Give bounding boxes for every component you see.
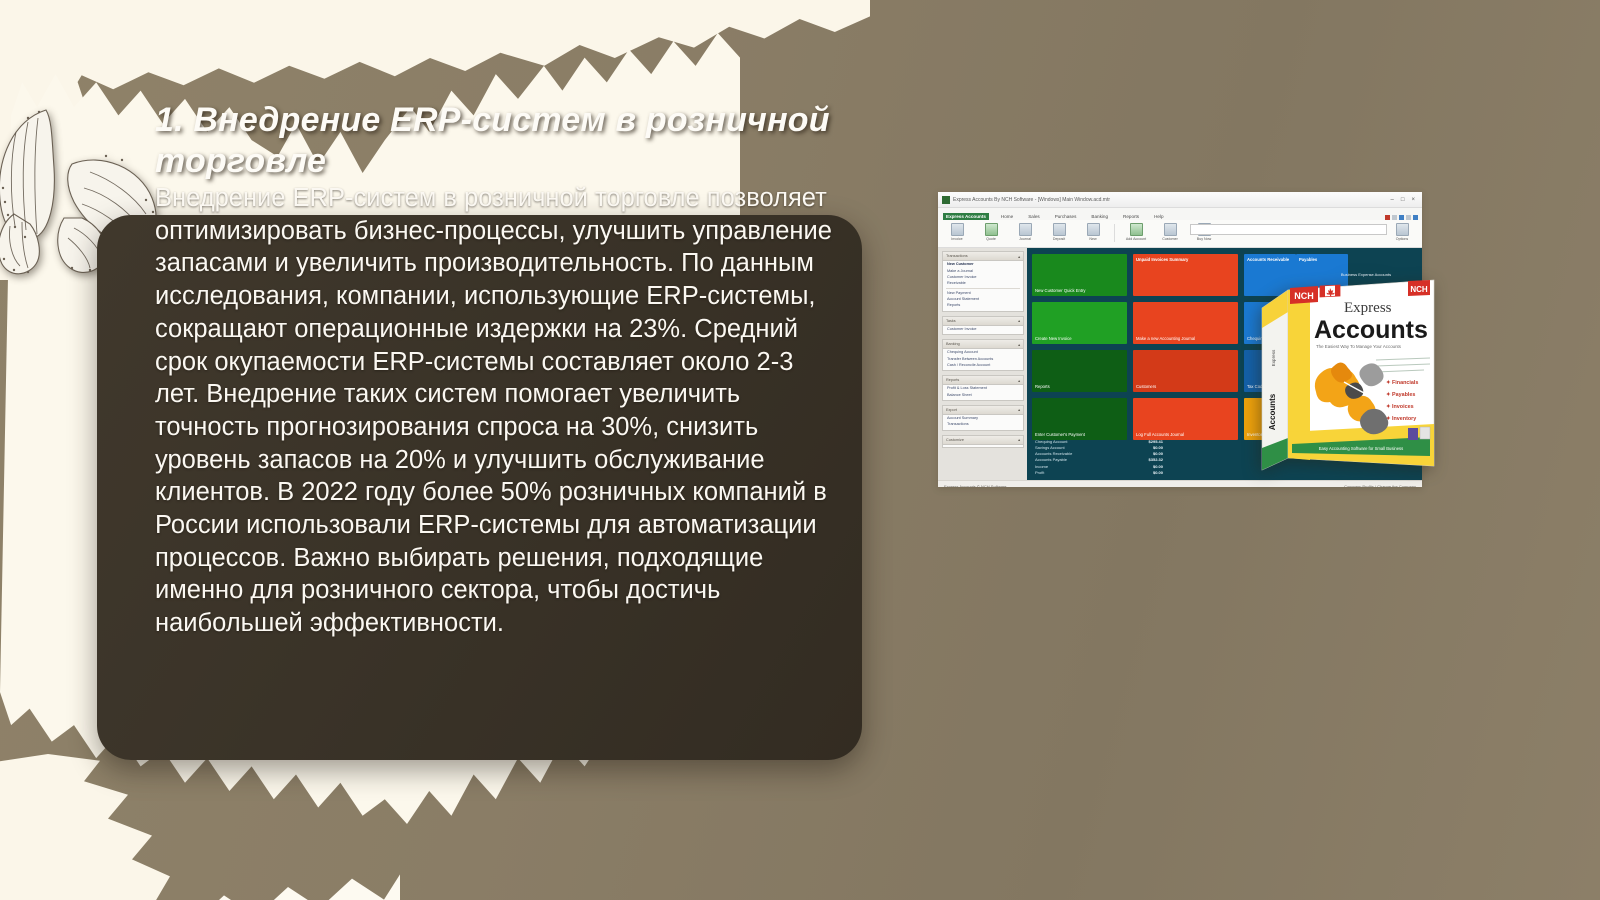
nav-item-transactions[interactable]: Transactions bbox=[943, 421, 1023, 427]
ribbon-tab-sales[interactable]: Sales bbox=[1025, 213, 1043, 220]
product-box-feature-payables: ✦ Payables bbox=[1386, 392, 1415, 398]
toolbar-label: Buy Now bbox=[1191, 237, 1217, 241]
nav-group-header[interactable]: Export ▴ bbox=[943, 406, 1023, 415]
tile-new-customer-quick-entry[interactable]: New Customer Quick Entry bbox=[1032, 254, 1127, 296]
toolbar-label: Deposit bbox=[1046, 237, 1072, 241]
collapse-icon[interactable]: ▴ bbox=[1018, 378, 1020, 383]
nav-group-header[interactable]: Transactions ▴ bbox=[943, 252, 1023, 261]
toolbar-button-deposit[interactable]: Deposit bbox=[1046, 223, 1072, 241]
toolbar-label: New bbox=[1080, 237, 1106, 241]
nav-group-export: Export ▴ Account Summary Transactions bbox=[942, 405, 1024, 431]
close-button[interactable]: × bbox=[1411, 197, 1415, 203]
collapse-icon[interactable]: ▴ bbox=[1018, 318, 1020, 323]
product-box-spine-text: Accounts bbox=[1268, 393, 1277, 430]
account-row: Profit $0.00 bbox=[1035, 470, 1163, 476]
collapse-icon[interactable]: ▴ bbox=[1018, 254, 1020, 259]
maximize-button[interactable]: □ bbox=[1401, 197, 1405, 203]
status-right: Company Profile / Change the Company bbox=[1344, 484, 1416, 487]
tile-customers[interactable]: Customers bbox=[1133, 350, 1238, 392]
ribbon-tabs: Express Accounts Home Sales Purchases Ba… bbox=[938, 208, 1422, 220]
toolbar-label: Add Account bbox=[1123, 237, 1149, 241]
tile-reports[interactable]: Reports bbox=[1032, 350, 1127, 392]
svg-text:NCH: NCH bbox=[1410, 285, 1428, 294]
nav-item-balance-sheet[interactable]: Balance Sheet bbox=[943, 392, 1023, 398]
new-icon bbox=[1087, 223, 1100, 236]
window-titlebar: Express Accounts By NCH Software - [Wind… bbox=[938, 192, 1422, 208]
toolbar: Invoice Quote Journal Deposit New bbox=[938, 220, 1422, 247]
search-input[interactable] bbox=[1190, 224, 1387, 235]
nav-item-receivable[interactable]: Receivable bbox=[943, 280, 1023, 286]
tile-make-new-accounting-journal[interactable]: Make a new Accounting Journal bbox=[1133, 302, 1238, 344]
product-box-tagline: The Easiest Way To Manage Your Accounts bbox=[1316, 344, 1402, 349]
nav-group-header[interactable]: Reports ▴ bbox=[943, 376, 1023, 385]
ribbon-tab-help[interactable]: Help bbox=[1151, 213, 1166, 220]
nav-item-cash-reconcile-account[interactable]: Cash / Reconcile Account bbox=[943, 362, 1023, 368]
product-box-feature-financials: ✦ Financials bbox=[1386, 380, 1418, 386]
invoice-icon bbox=[951, 223, 964, 236]
nav-item-task-customer-invoice[interactable]: Customer Invoice bbox=[943, 326, 1023, 332]
toolbar-divider bbox=[1114, 224, 1115, 242]
toolbar-button-options[interactable]: Options bbox=[1389, 223, 1415, 241]
nav-group-customize: Customize ▴ bbox=[942, 435, 1024, 448]
toolbar-button-journal[interactable]: Journal bbox=[1012, 223, 1038, 241]
toolbar-label: Options bbox=[1389, 237, 1415, 241]
nav-group-title: Banking bbox=[946, 342, 960, 346]
nav-group-tasks: Tasks ▴ Customer Invoice bbox=[942, 316, 1024, 335]
ribbon: Express Accounts Home Sales Purchases Ba… bbox=[938, 208, 1422, 248]
svg-text:Express: Express bbox=[1271, 349, 1276, 366]
page-title: 1. Внедрение ERP-систем в розничной торг… bbox=[155, 100, 855, 183]
toolbar-label: Customer bbox=[1157, 237, 1183, 241]
nav-group-title: Export bbox=[946, 408, 957, 412]
product-box-feature-inventory: ✦ Inventory bbox=[1386, 416, 1416, 422]
ribbon-tab-reports[interactable]: Reports bbox=[1120, 213, 1142, 220]
product-box-header-strip: Business Expense Accounts bbox=[1341, 272, 1391, 277]
account-name: Profit bbox=[1035, 470, 1044, 476]
options-icon bbox=[1396, 223, 1409, 236]
body-paragraph: Внедрение ERP-систем в розничной торговл… bbox=[155, 182, 835, 640]
slide-canvas: 1. Внедрение ERP-систем в розничной торг… bbox=[0, 0, 1600, 900]
navigation-pane[interactable]: Transactions ▴ New Customer Make a Journ… bbox=[938, 248, 1027, 480]
toolbar-button-invoice[interactable]: Invoice bbox=[944, 223, 970, 241]
nav-group-transactions: Transactions ▴ New Customer Make a Journ… bbox=[942, 251, 1024, 312]
collapse-icon[interactable]: ▴ bbox=[1018, 342, 1020, 347]
nav-group-title: Customize bbox=[946, 438, 964, 442]
status-left: Express Accounts © NCH Software bbox=[944, 484, 1007, 487]
nav-group-title: Reports bbox=[946, 378, 959, 382]
nav-group-title: Transactions bbox=[946, 254, 968, 258]
nav-divider bbox=[946, 288, 1020, 289]
nav-group-title: Tasks bbox=[946, 319, 956, 323]
nav-group-header[interactable]: Banking ▴ bbox=[943, 340, 1023, 349]
toolbar-button-add-account[interactable]: Add Account bbox=[1123, 223, 1149, 241]
journal-icon bbox=[1019, 223, 1032, 236]
nav-item-reports[interactable]: Reports bbox=[943, 302, 1023, 308]
toolbar-label: Journal bbox=[1012, 237, 1038, 241]
account-summary-list: Chequing Account $295.41 Savings Account… bbox=[1035, 439, 1163, 476]
product-box-brand: NCH bbox=[1294, 291, 1314, 301]
toolbar-label: Quote bbox=[978, 237, 1004, 241]
product-box-feature-invoices: ✦ Invoices bbox=[1386, 404, 1414, 410]
nav-group-header[interactable]: Customize ▴ bbox=[943, 436, 1023, 445]
window-title: Express Accounts By NCH Software - [Wind… bbox=[953, 197, 1391, 203]
product-box-title-small: Express bbox=[1344, 300, 1392, 316]
collapse-icon[interactable]: ▴ bbox=[1018, 407, 1020, 412]
nav-group-reports: Reports ▴ Profit & Loss Statement Balanc… bbox=[942, 375, 1024, 401]
toolbar-button-customer[interactable]: Customer bbox=[1157, 223, 1183, 241]
tile-unpaid-invoices-summary[interactable]: Unpaid Invoices Summary bbox=[1133, 254, 1238, 296]
product-box-footer-banner: Easy Accounting Software for Small Busin… bbox=[1319, 446, 1404, 451]
collapse-icon[interactable]: ▴ bbox=[1018, 437, 1020, 442]
tile-enter-customers-payment[interactable]: Enter Customer's Payment bbox=[1032, 398, 1127, 440]
ribbon-tab-home[interactable]: Home bbox=[998, 213, 1016, 220]
add-account-icon bbox=[1130, 223, 1143, 236]
nav-group-header[interactable]: Tasks ▴ bbox=[943, 317, 1023, 326]
window-controls: – □ × bbox=[1391, 197, 1418, 203]
product-box-title-large: Accounts bbox=[1314, 316, 1428, 344]
toolbar-button-quote[interactable]: Quote bbox=[978, 223, 1004, 241]
customer-icon bbox=[1164, 223, 1177, 236]
ribbon-tab-banking[interactable]: Banking bbox=[1088, 213, 1111, 220]
nav-group-banking: Banking ▴ Chequing Account Transfer Betw… bbox=[942, 339, 1024, 371]
minimize-button[interactable]: – bbox=[1391, 197, 1394, 203]
ribbon-tab-express-accounts[interactable]: Express Accounts bbox=[943, 213, 989, 220]
toolbar-label: Invoice bbox=[944, 237, 970, 241]
ribbon-tab-purchases[interactable]: Purchases bbox=[1052, 213, 1080, 220]
product-box-image: Accounts Express NCH NCH Express Account… bbox=[1258, 262, 1436, 484]
tile-log-full-accounts-journal[interactable]: Log Full Accounts Journal bbox=[1133, 398, 1238, 440]
toolbar-button-new[interactable]: New bbox=[1080, 223, 1106, 241]
deposit-icon bbox=[1053, 223, 1066, 236]
tile-create-new-invoice[interactable]: Create New Invoice bbox=[1032, 302, 1127, 344]
quote-icon bbox=[985, 223, 998, 236]
account-value: $0.00 bbox=[1153, 470, 1163, 476]
app-icon bbox=[942, 196, 950, 204]
